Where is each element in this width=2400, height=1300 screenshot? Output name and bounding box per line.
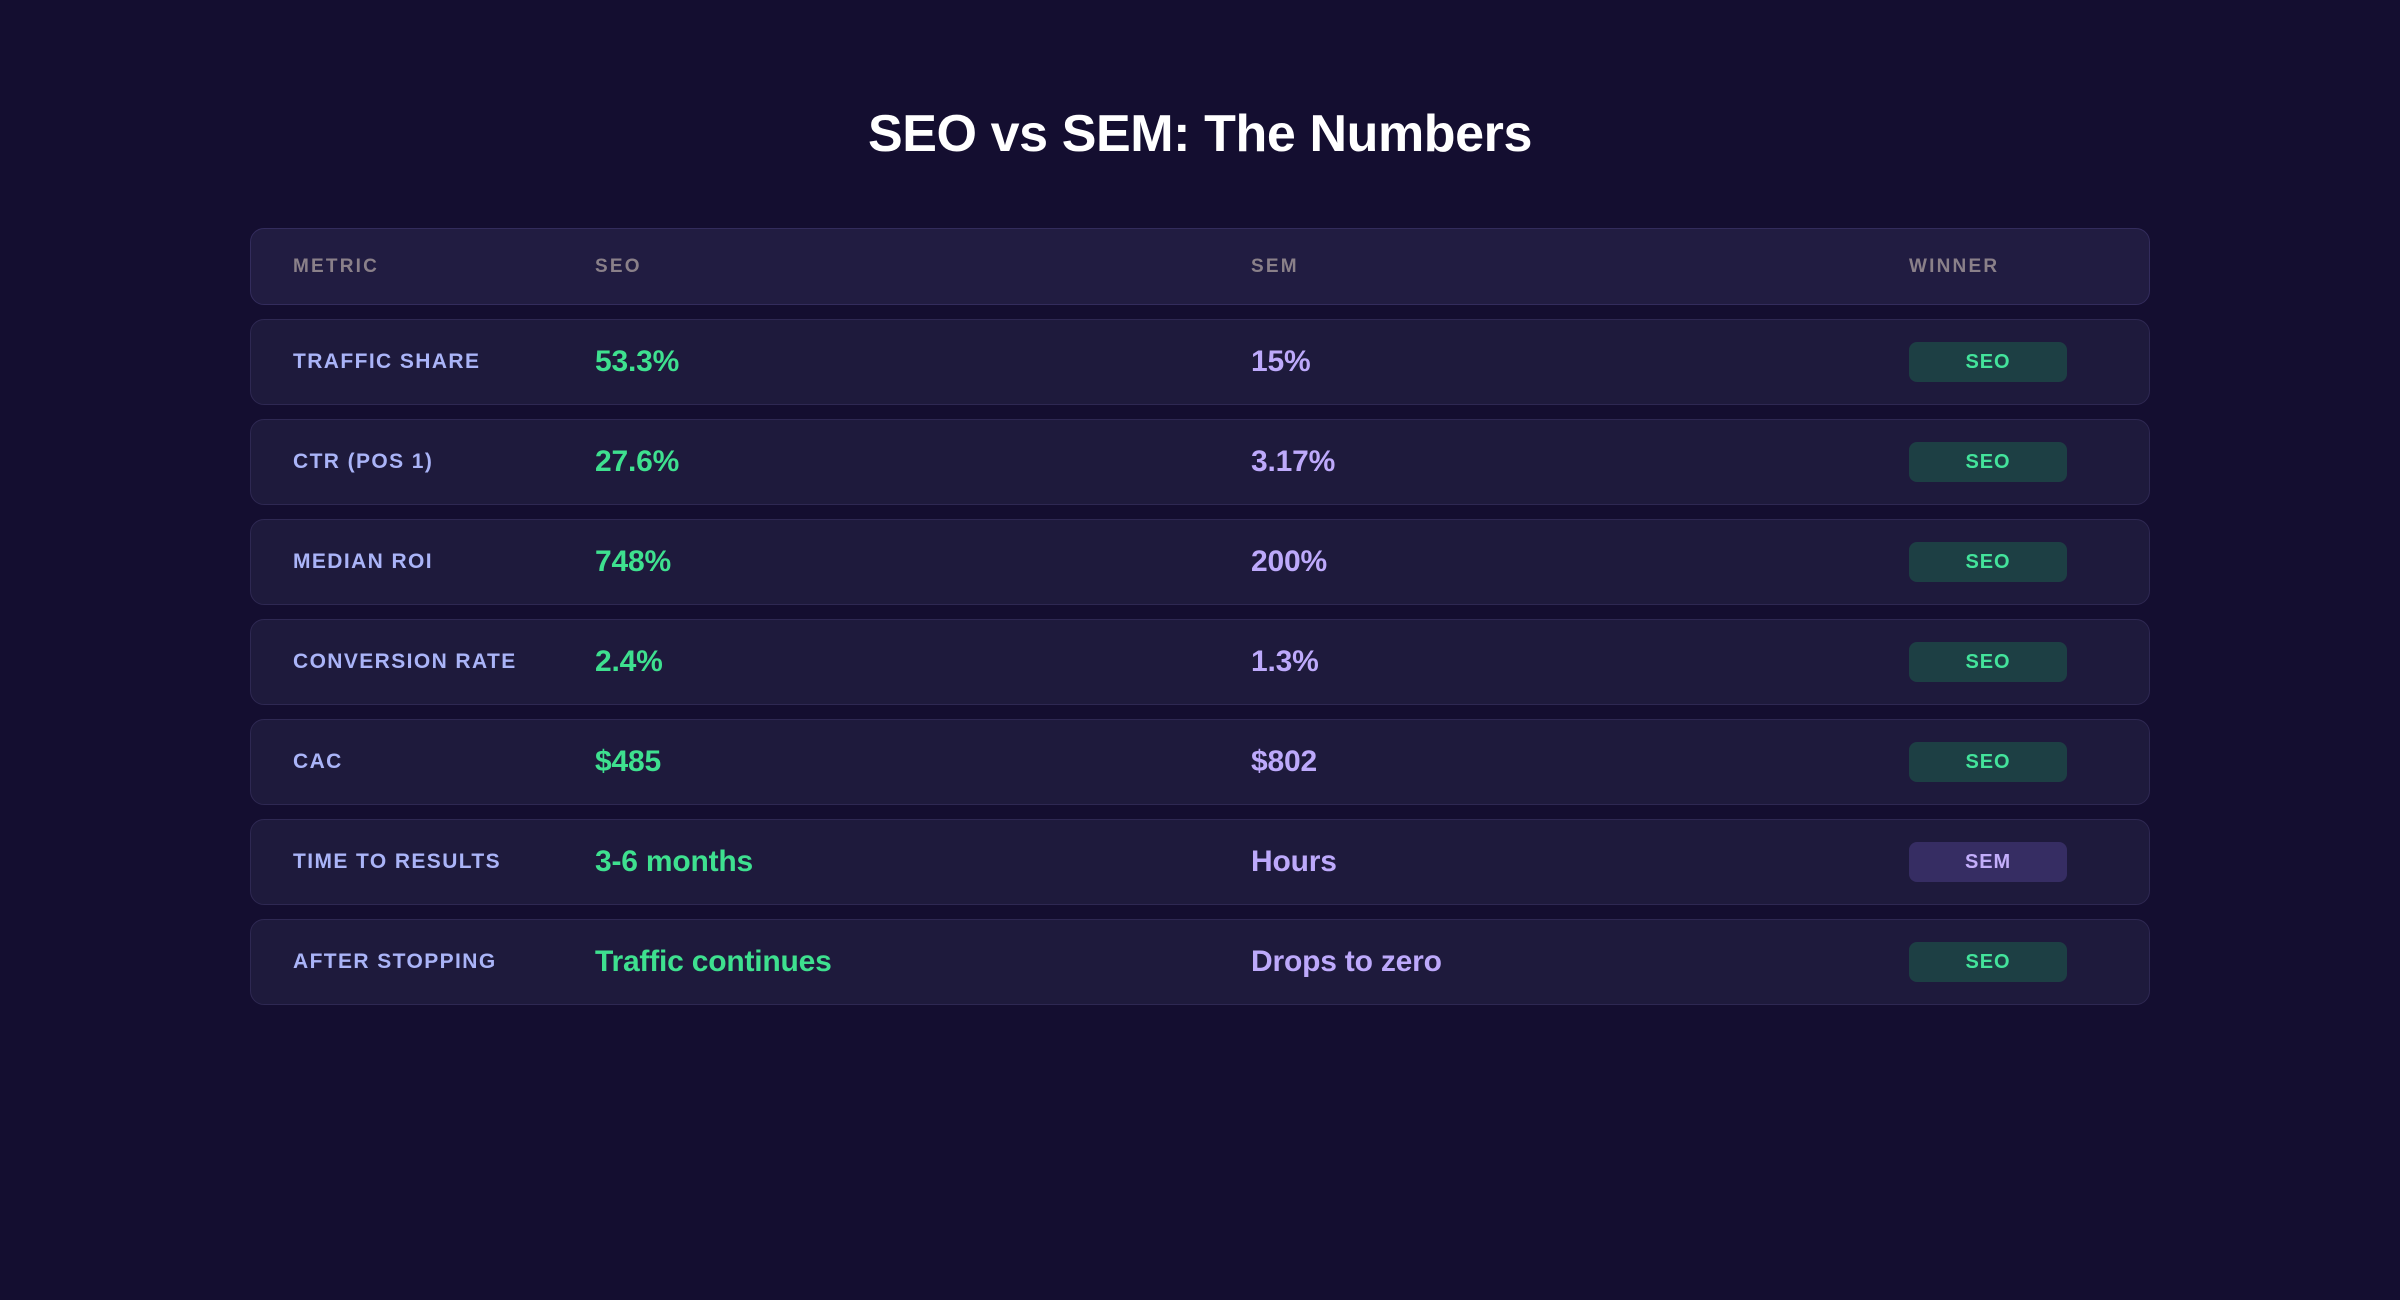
winner-badge: SEO bbox=[1909, 342, 2067, 382]
table-row: TRAFFIC SHARE 53.3% 15% SEO bbox=[250, 319, 2150, 405]
sem-value: $802 bbox=[1251, 745, 1317, 778]
cell-sem: Drops to zero bbox=[1251, 945, 1909, 979]
header-cell-winner: WINNER bbox=[1909, 256, 1999, 278]
metric-label: TRAFFIC SHARE bbox=[293, 350, 480, 373]
winner-badge: SEO bbox=[1909, 742, 2067, 782]
cell-winner: SEO bbox=[1909, 742, 2149, 782]
cell-winner: SEO bbox=[1909, 542, 2149, 582]
metric-label: CONVERSION RATE bbox=[293, 650, 517, 673]
header-cell-metric-wrap: METRIC bbox=[251, 256, 595, 278]
header-cell-winner-wrap: WINNER bbox=[1909, 256, 2149, 278]
seo-value: 53.3% bbox=[595, 345, 679, 378]
header-cell-seo-wrap: SEO bbox=[595, 256, 1251, 278]
cell-metric: AFTER STOPPING bbox=[251, 950, 595, 974]
table-row: CAC $485 $802 SEO bbox=[250, 719, 2150, 805]
cell-metric: CTR (POS 1) bbox=[251, 450, 595, 474]
header-cell-sem: SEM bbox=[1251, 256, 1299, 277]
cell-winner: SEO bbox=[1909, 942, 2149, 982]
cell-seo: 53.3% bbox=[595, 345, 1251, 379]
header-cell-sem-wrap: SEM bbox=[1251, 256, 1909, 278]
cell-seo: 2.4% bbox=[595, 645, 1251, 679]
sem-value: Hours bbox=[1251, 845, 1337, 878]
comparison-table-page: SEO vs SEM: The Numbers METRIC SEO SEM W… bbox=[0, 0, 2400, 1300]
cell-sem: 15% bbox=[1251, 345, 1909, 379]
seo-value: Traffic continues bbox=[595, 945, 832, 978]
cell-sem: 200% bbox=[1251, 545, 1909, 579]
metric-label: TIME TO RESULTS bbox=[293, 850, 501, 873]
table-row: CTR (POS 1) 27.6% 3.17% SEO bbox=[250, 419, 2150, 505]
sem-value: 15% bbox=[1251, 345, 1310, 378]
seo-value: $485 bbox=[595, 745, 661, 778]
cell-winner: SEO bbox=[1909, 342, 2149, 382]
metric-label: MEDIAN ROI bbox=[293, 550, 433, 573]
table-header-row: METRIC SEO SEM WINNER bbox=[250, 228, 2150, 305]
cell-winner: SEM bbox=[1909, 842, 2149, 882]
winner-badge: SEO bbox=[1909, 642, 2067, 682]
cell-winner: SEO bbox=[1909, 442, 2149, 482]
winner-badge: SEO bbox=[1909, 542, 2067, 582]
cell-metric: CONVERSION RATE bbox=[251, 650, 595, 674]
cell-sem: $802 bbox=[1251, 745, 1909, 779]
cell-sem: Hours bbox=[1251, 845, 1909, 879]
sem-value: 1.3% bbox=[1251, 645, 1319, 678]
seo-value: 27.6% bbox=[595, 445, 679, 478]
table-row: CONVERSION RATE 2.4% 1.3% SEO bbox=[250, 619, 2150, 705]
cell-seo: 3-6 months bbox=[595, 845, 1251, 879]
cell-winner: SEO bbox=[1909, 642, 2149, 682]
page-title: SEO vs SEM: The Numbers bbox=[0, 108, 2400, 160]
header-cell-seo: SEO bbox=[595, 256, 642, 277]
metric-label: CTR (POS 1) bbox=[293, 450, 433, 473]
cell-sem: 3.17% bbox=[1251, 445, 1909, 479]
winner-badge: SEO bbox=[1909, 942, 2067, 982]
cell-seo: $485 bbox=[595, 745, 1251, 779]
seo-value: 3-6 months bbox=[595, 845, 753, 878]
seo-value: 2.4% bbox=[595, 645, 663, 678]
header-cell-metric: METRIC bbox=[293, 256, 379, 277]
sem-value: Drops to zero bbox=[1251, 945, 1442, 978]
cell-seo: 748% bbox=[595, 545, 1251, 579]
table-row: TIME TO RESULTS 3-6 months Hours SEM bbox=[250, 819, 2150, 905]
cell-seo: Traffic continues bbox=[595, 945, 1251, 979]
table-row: AFTER STOPPING Traffic continues Drops t… bbox=[250, 919, 2150, 1005]
winner-badge: SEM bbox=[1909, 842, 2067, 882]
metric-label: CAC bbox=[293, 750, 343, 773]
metric-label: AFTER STOPPING bbox=[293, 950, 497, 973]
sem-value: 200% bbox=[1251, 545, 1327, 578]
cell-metric: MEDIAN ROI bbox=[251, 550, 595, 574]
sem-value: 3.17% bbox=[1251, 445, 1335, 478]
cell-sem: 1.3% bbox=[1251, 645, 1909, 679]
seo-value: 748% bbox=[595, 545, 671, 578]
cell-metric: TIME TO RESULTS bbox=[251, 850, 595, 874]
cell-metric: CAC bbox=[251, 750, 595, 774]
winner-badge: SEO bbox=[1909, 442, 2067, 482]
table-row: MEDIAN ROI 748% 200% SEO bbox=[250, 519, 2150, 605]
comparison-table: METRIC SEO SEM WINNER TRAFFIC SHARE 53.3… bbox=[250, 228, 2150, 1005]
cell-seo: 27.6% bbox=[595, 445, 1251, 479]
cell-metric: TRAFFIC SHARE bbox=[251, 350, 595, 374]
